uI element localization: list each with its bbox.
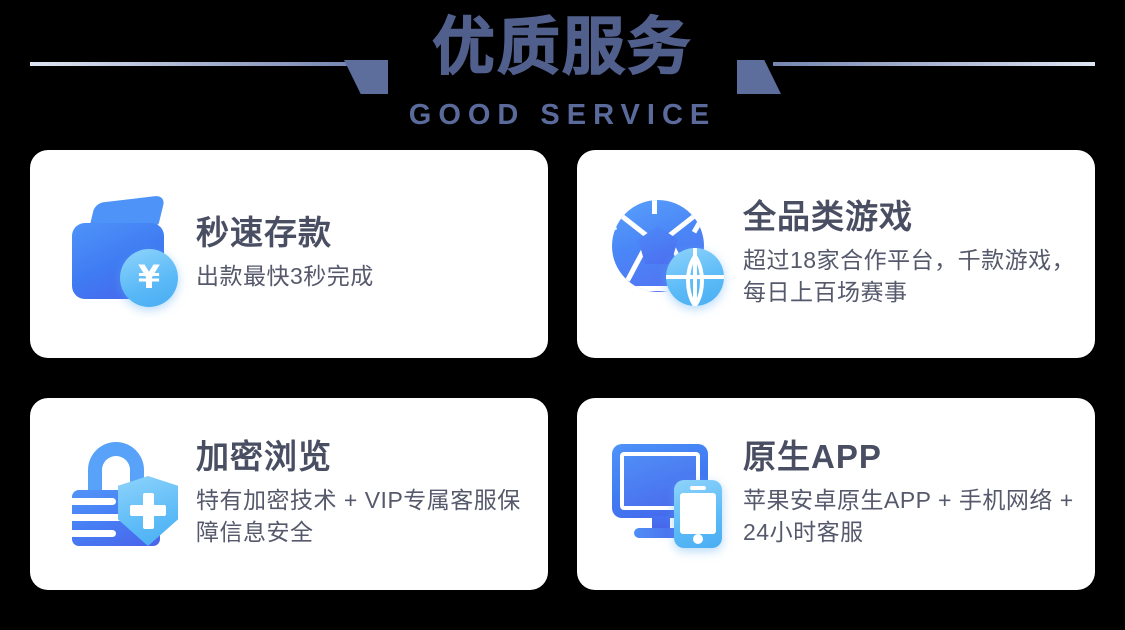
- card-title: 原生APP: [743, 439, 1085, 475]
- card-description: 出款最快3秒完成: [196, 261, 374, 293]
- feature-card-deposit[interactable]: ¥ 秒速存款 出款最快3秒完成: [30, 150, 548, 358]
- soccer-basketball-icon: [605, 195, 737, 313]
- page-subtitle: GOOD SERVICE: [0, 99, 1125, 132]
- card-text: 加密浏览 特有加密技术 + VIP专属客服保障信息安全: [190, 439, 548, 549]
- yen-symbol: ¥: [138, 261, 160, 293]
- feature-card-encryption[interactable]: 加密浏览 特有加密技术 + VIP专属客服保障信息安全: [30, 398, 548, 590]
- card-text: 全品类游戏 超过18家合作平台，千款游戏，每日上百场赛事: [737, 199, 1095, 309]
- feature-card-native-app[interactable]: 原生APP 苹果安卓原生APP + 手机网络 + 24小时客服: [577, 398, 1095, 590]
- wallet-coin-icon: ¥: [58, 195, 190, 313]
- page-title: 优质服务: [0, 16, 1125, 78]
- poster-stage: 优质服务 GOOD SERVICE ¥ 秒速存款 出款最快3秒完成: [0, 0, 1125, 630]
- card-title: 加密浏览: [196, 439, 538, 475]
- header: 优质服务 GOOD SERVICE: [0, 0, 1125, 140]
- card-description: 苹果安卓原生APP + 手机网络 + 24小时客服: [743, 485, 1085, 548]
- lock-shield-icon: [58, 435, 190, 553]
- yen-coin-icon: ¥: [120, 249, 178, 307]
- card-description: 特有加密技术 + VIP专属客服保障信息安全: [196, 485, 538, 548]
- feature-card-games[interactable]: 全品类游戏 超过18家合作平台，千款游戏，每日上百场赛事: [577, 150, 1095, 358]
- card-text: 秒速存款 出款最快3秒完成: [190, 215, 384, 293]
- basketball-icon: [666, 248, 724, 306]
- card-title: 全品类游戏: [743, 199, 1085, 235]
- phone-icon: [674, 480, 722, 548]
- card-text: 原生APP 苹果安卓原生APP + 手机网络 + 24小时客服: [737, 439, 1095, 549]
- feature-card-grid: ¥ 秒速存款 出款最快3秒完成: [30, 150, 1095, 590]
- card-description: 超过18家合作平台，千款游戏，每日上百场赛事: [743, 245, 1085, 308]
- card-title: 秒速存款: [196, 215, 374, 251]
- monitor-phone-icon: [605, 435, 737, 553]
